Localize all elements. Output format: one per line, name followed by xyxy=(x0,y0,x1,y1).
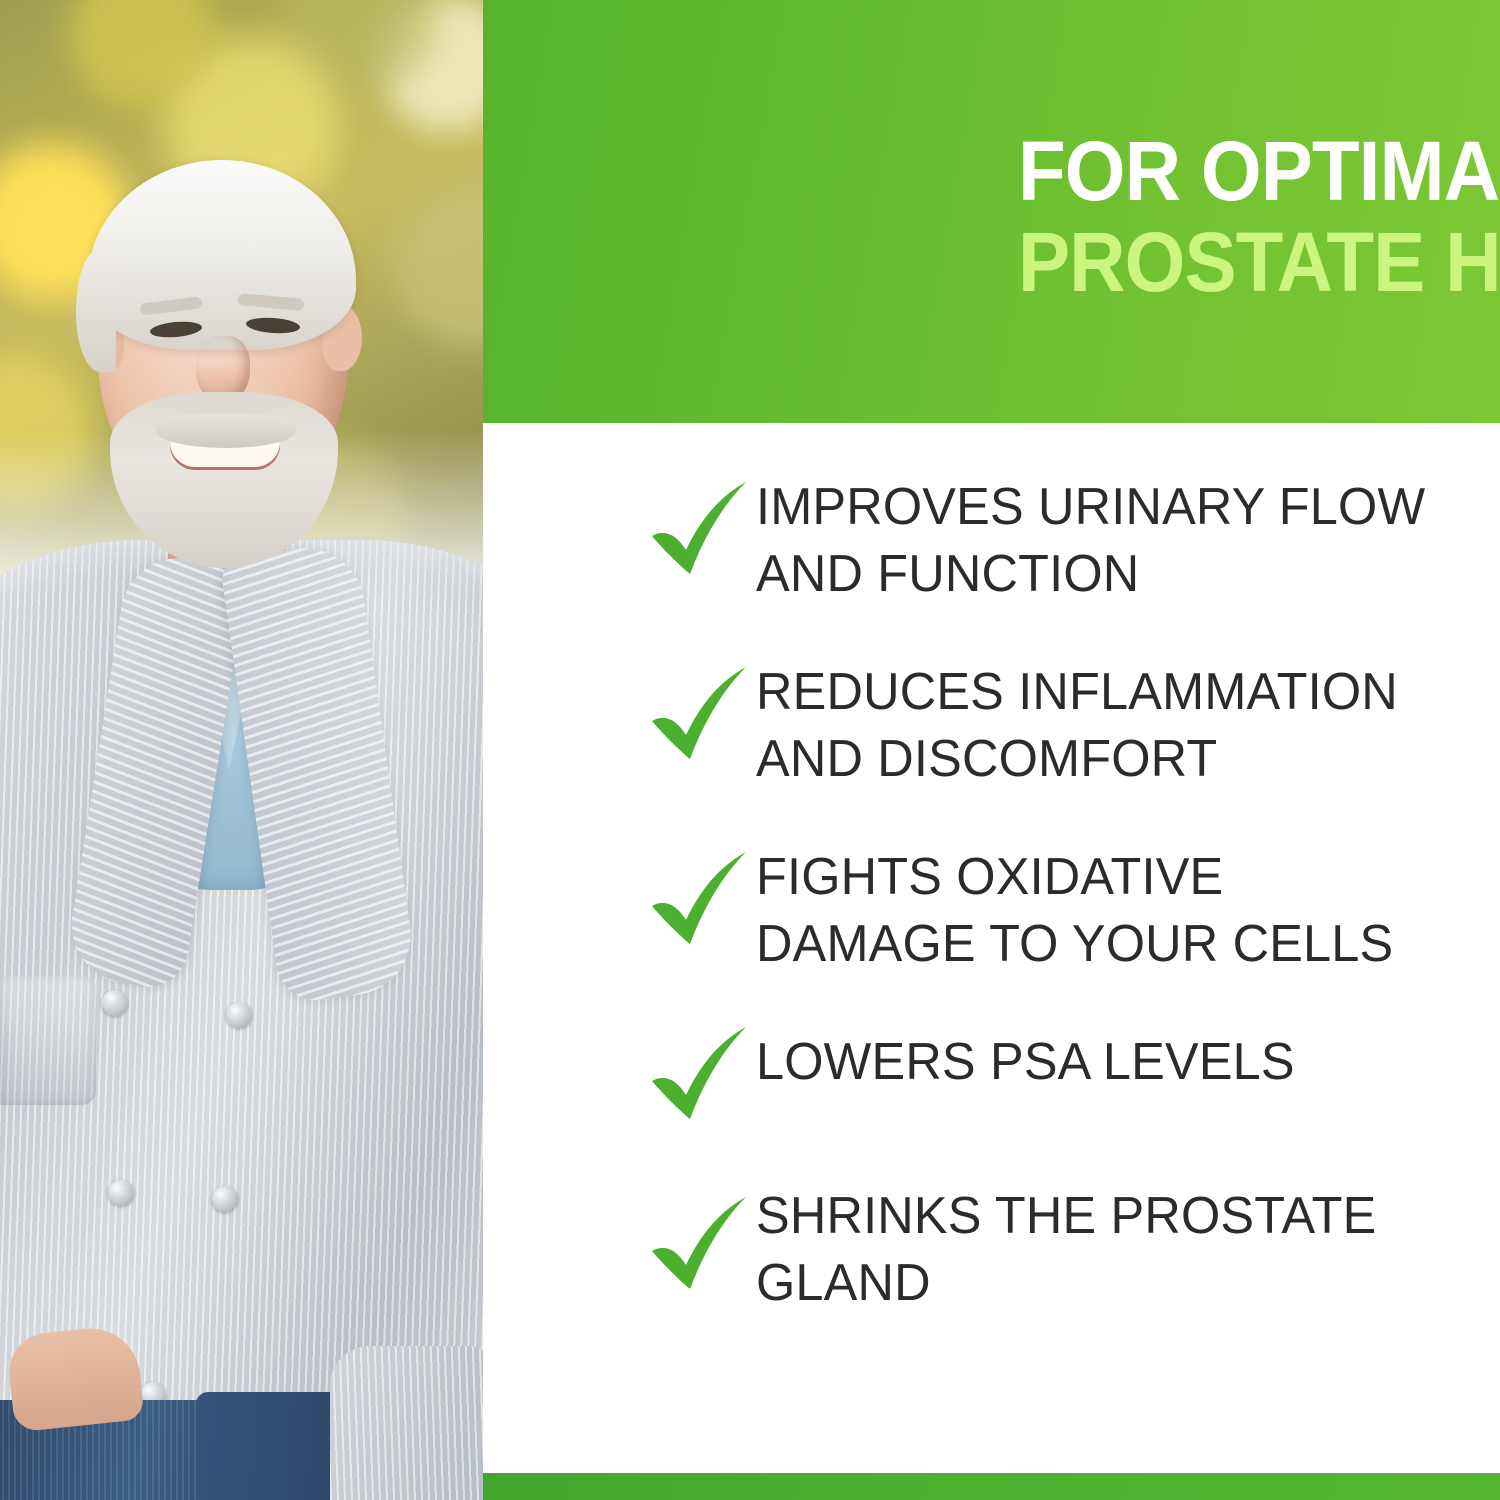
benefit-item: LOWERS PSA LEVELS xyxy=(646,1025,1466,1127)
benefit-label: REDUCES INFLAMMATION AND DISCOMFORT xyxy=(756,655,1445,792)
product-benefits-ad: FOR OPTIMAL PROSTATE HEALTH Ben's Natura… xyxy=(0,0,1500,1500)
cardigan-sleeve-cuff xyxy=(330,1346,483,1500)
benefits-list: IMPROVES URINARY FLOW AND FUNCTION REDUC… xyxy=(646,470,1466,1316)
cardigan-button xyxy=(226,1002,252,1028)
cardigan-button xyxy=(102,990,128,1016)
white-hair xyxy=(88,160,356,350)
benefit-label: LOWERS PSA LEVELS xyxy=(756,1025,1295,1096)
moustache xyxy=(156,414,296,448)
checkmark-icon xyxy=(646,844,756,952)
headline-line-1: FOR OPTIMAL xyxy=(1018,132,1500,212)
checkmark-icon xyxy=(646,1019,756,1127)
benefit-label: SHRINKS THE PROSTATE GLAND xyxy=(756,1179,1445,1316)
benefit-label: FIGHTS OXIDATIVE DAMAGE TO YOUR CELLS xyxy=(756,840,1445,977)
benefit-label: IMPROVES URINARY FLOW AND FUNCTION xyxy=(756,470,1445,607)
checkmark-icon xyxy=(646,659,756,767)
benefit-item: FIGHTS OXIDATIVE DAMAGE TO YOUR CELLS xyxy=(646,840,1466,977)
cardigan-button xyxy=(212,1186,238,1212)
checkmark-icon xyxy=(646,474,756,582)
checkmark-icon xyxy=(646,1189,756,1297)
senior-man-figure xyxy=(0,0,483,1500)
cardigan-pocket xyxy=(0,975,96,1105)
bottom-green-bar xyxy=(483,1473,1500,1500)
headline-block: FOR OPTIMAL PROSTATE HEALTH xyxy=(1018,132,1500,304)
cardigan-button xyxy=(108,1180,134,1206)
headline-panel: FOR OPTIMAL PROSTATE HEALTH Ben's Natura… xyxy=(483,0,1500,423)
headline-line-2: PROSTATE HEALTH xyxy=(1018,220,1500,304)
benefit-item: SHRINKS THE PROSTATE GLAND xyxy=(646,1179,1466,1316)
benefit-item: IMPROVES URINARY FLOW AND FUNCTION xyxy=(646,470,1466,607)
hero-photo xyxy=(0,0,483,1500)
benefit-item: REDUCES INFLAMMATION AND DISCOMFORT xyxy=(646,655,1466,792)
